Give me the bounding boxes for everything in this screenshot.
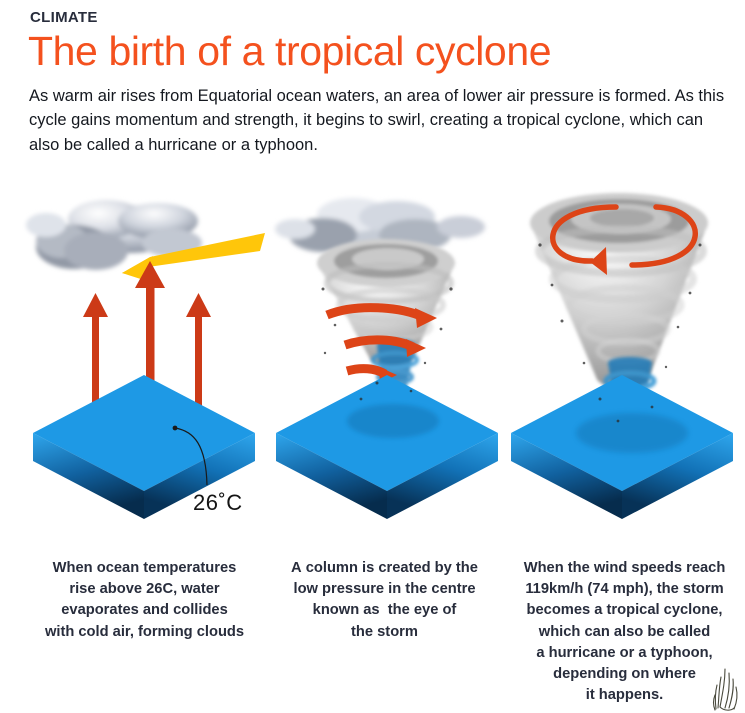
caption-stage-2: A column is created by thelow pressure i… bbox=[268, 558, 501, 643]
standfirst-paragraph: As warm air rises from Equatorial ocean … bbox=[29, 84, 729, 157]
infographic-root: CLIMATE The birth of a tropical cyclone … bbox=[0, 0, 745, 713]
illustration-stage-2 bbox=[265, 185, 510, 525]
stage-3-artwork bbox=[500, 185, 745, 525]
rising-air-arrow bbox=[83, 293, 108, 411]
rising-air-arrow bbox=[186, 293, 211, 411]
temperature-label: 26˚C bbox=[193, 490, 243, 516]
artist-signature-icon bbox=[707, 665, 741, 711]
kicker-label: CLIMATE bbox=[30, 9, 98, 26]
stage-1-artwork bbox=[22, 185, 267, 525]
ocean-block bbox=[511, 375, 733, 519]
illustration-stage-1 bbox=[22, 185, 267, 525]
stage-2-artwork bbox=[265, 185, 510, 525]
ocean-block bbox=[276, 375, 498, 519]
page-title: The birth of a tropical cyclone bbox=[28, 30, 551, 73]
caption-stage-1: When ocean temperaturesrise above 26C, w… bbox=[28, 558, 261, 643]
illustration-stage-3 bbox=[500, 185, 745, 525]
